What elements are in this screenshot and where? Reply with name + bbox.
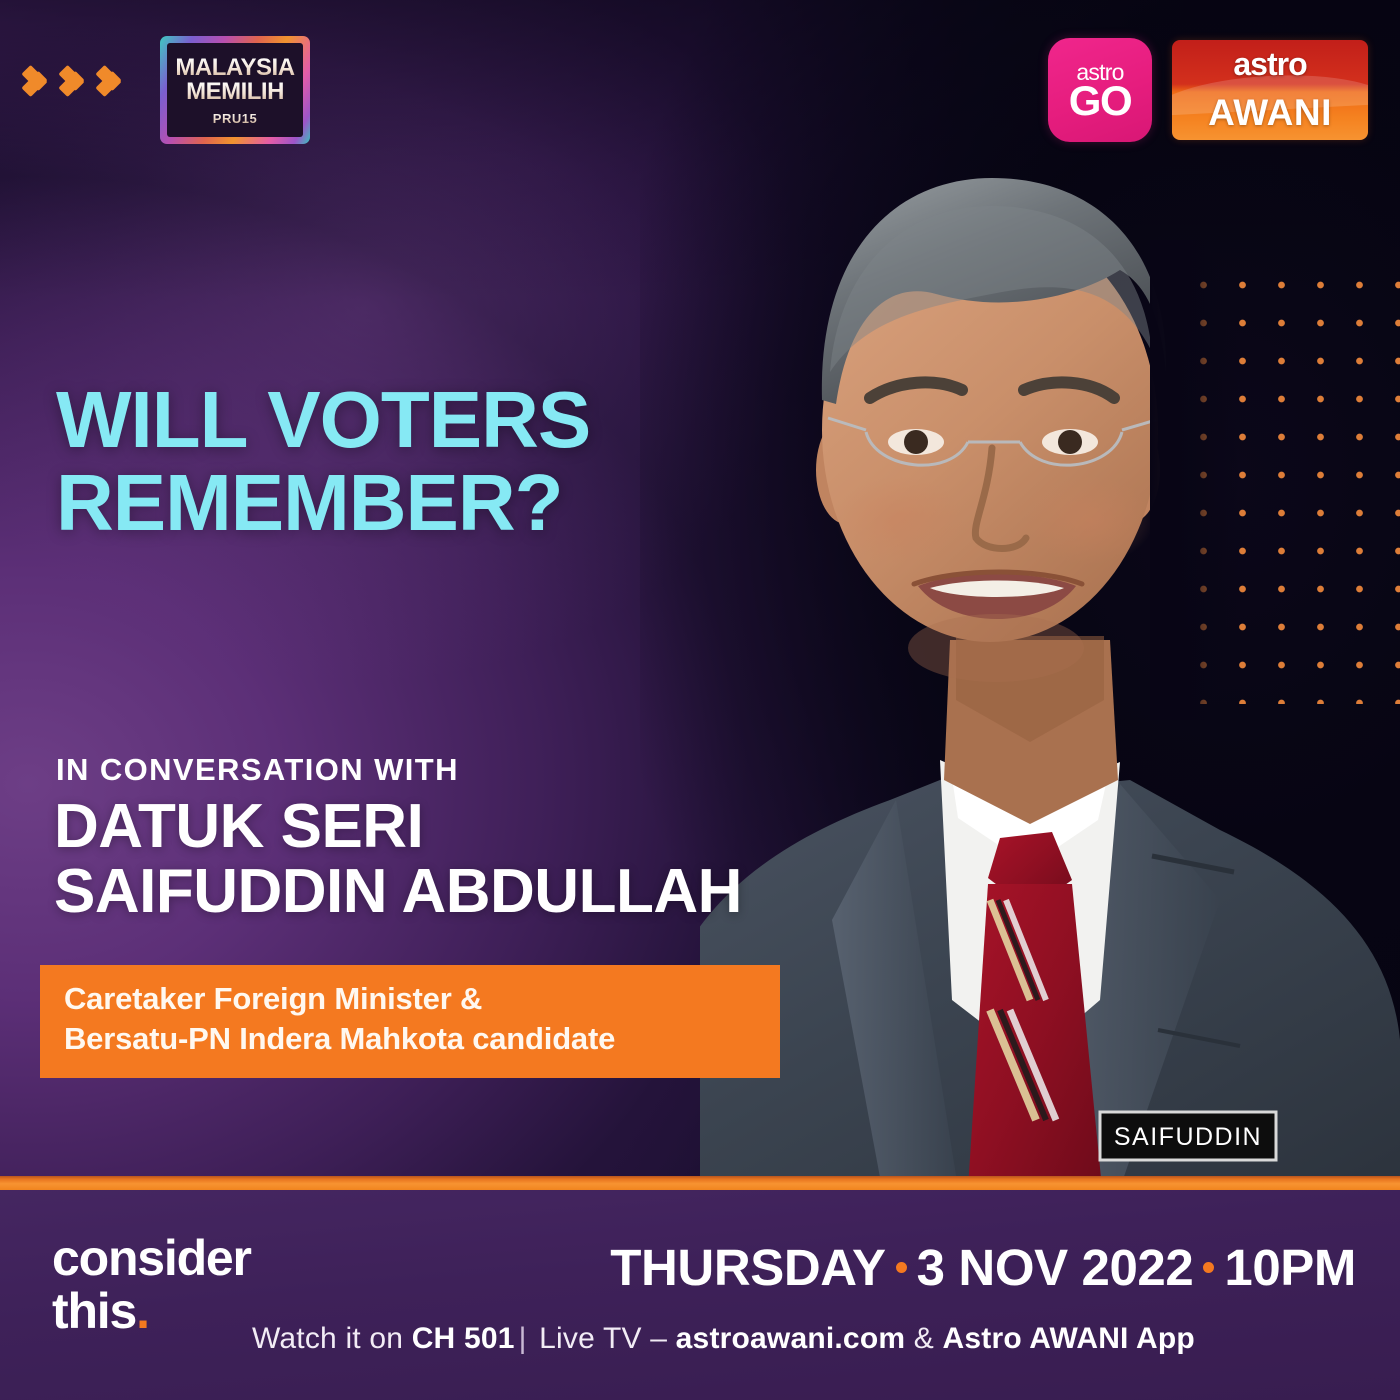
orange-divider	[0, 1176, 1400, 1190]
guest-role-line1: Caretaker Foreign Minister &	[64, 979, 758, 1019]
guest-name-line2: SAIFUDDIN ABDULLAH	[54, 859, 742, 924]
malaysia-memilih-logo: MALAYSIA MEMILIH PRU15	[160, 36, 310, 144]
chevron-right-icon	[98, 52, 128, 110]
chevron-right-triple-icon	[24, 52, 128, 110]
malaysia-memilih-line2: MEMILIH	[186, 81, 284, 104]
headline-line2: REMEMBER?	[56, 461, 590, 544]
svg-text:SAIFUDDIN: SAIFUDDIN	[1114, 1123, 1262, 1151]
astro-awani-astro-text: astro	[1172, 46, 1368, 83]
astro-awani-awani-text: AWANI	[1172, 92, 1368, 134]
headline: WILL VOTERS REMEMBER?	[56, 378, 590, 544]
astro-go-go-text: GO	[1069, 80, 1132, 122]
watch-app-connector: &	[905, 1322, 942, 1355]
astro-awani-logo: astro AWANI	[1172, 40, 1368, 140]
watch-app: Astro AWANI App	[943, 1322, 1195, 1355]
guest-portrait-photo: SAIFUDDIN	[700, 0, 1400, 1188]
consider-this-line1: consider	[52, 1232, 251, 1285]
watch-website[interactable]: astroawani.com	[676, 1322, 906, 1355]
malaysia-memilih-pru15: PRU15	[213, 111, 257, 126]
dot-grid-left-fade	[1150, 240, 1240, 720]
consider-this-dot: .	[136, 1283, 149, 1339]
broadcast-datetime: THURSDAY3 NOV 202210PM	[610, 1238, 1356, 1297]
malaysia-memilih-line1: MALAYSIA	[175, 57, 294, 80]
guest-intro-label: IN CONVERSATION WITH	[56, 752, 459, 788]
guest-role-line2: Bersatu-PN Indera Mahkota candidate	[64, 1019, 758, 1059]
astro-go-logo: astro GO	[1048, 38, 1152, 142]
guest-role-banner: Caretaker Foreign Minister & Bersatu-PN …	[40, 965, 780, 1078]
bullet-dot-icon	[896, 1262, 907, 1273]
guest-name-line1: DATUK SERI	[54, 794, 742, 859]
watch-live-prefix: Live TV –	[531, 1322, 676, 1355]
consider-this-line2-wrap: this.	[52, 1285, 251, 1338]
broadcast-time: 10PM	[1224, 1239, 1356, 1296]
guest-name: DATUK SERI SAIFUDDIN ABDULLAH	[54, 794, 742, 924]
watch-channel: CH 501	[412, 1322, 515, 1355]
chevron-right-icon	[61, 52, 91, 110]
broadcast-date: 3 NOV 2022	[917, 1239, 1194, 1296]
poster-canvas: SAIFUDDIN MALAYSIA MEMILIH PRU15 astro G…	[0, 0, 1400, 1400]
bullet-dot-icon	[1203, 1262, 1214, 1273]
malaysia-memilih-logo-inner: MALAYSIA MEMILIH PRU15	[167, 43, 303, 137]
watch-separator: |	[515, 1322, 531, 1355]
watch-prefix: Watch it on	[252, 1322, 412, 1355]
consider-this-line2: this	[52, 1283, 136, 1339]
astro-go-astro-text: astro	[1076, 61, 1123, 84]
watch-info-line: Watch it on CH 501| Live TV – astroawani…	[252, 1322, 1195, 1356]
consider-this-logo: consider this.	[52, 1232, 251, 1338]
chevron-right-icon	[24, 52, 54, 110]
broadcast-day: THURSDAY	[610, 1239, 885, 1296]
headline-line1: WILL VOTERS	[56, 378, 590, 461]
